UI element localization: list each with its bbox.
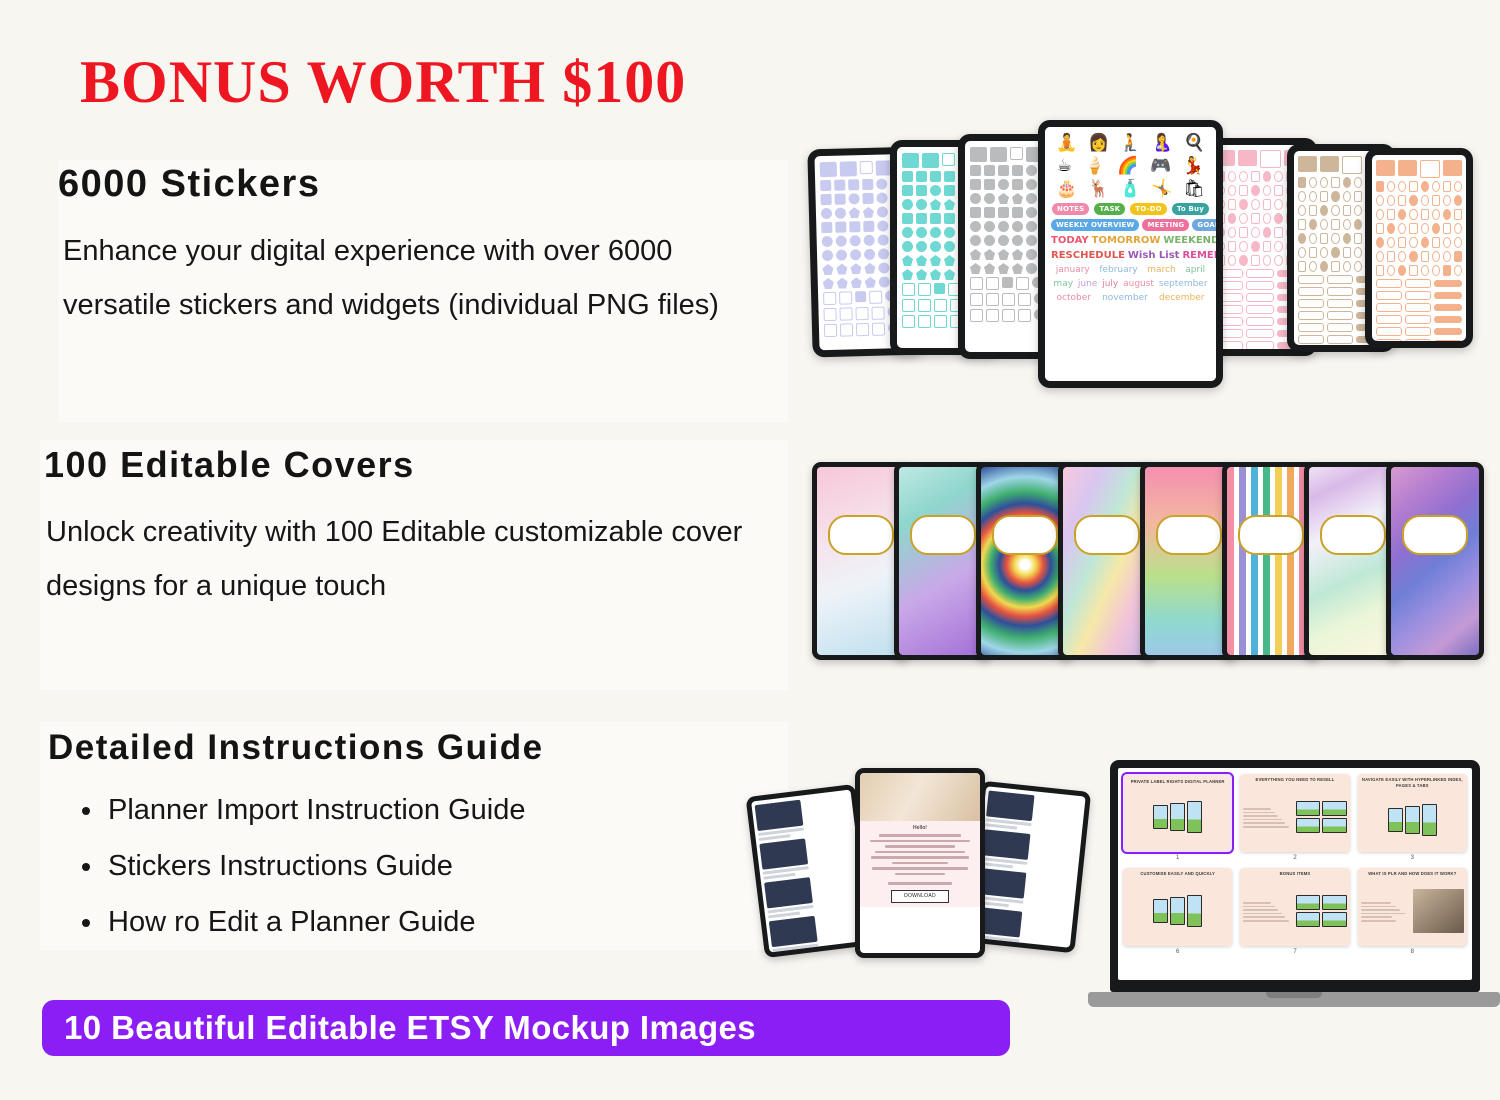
mockup-slide-thumbnail[interactable]: EVERYTHING YOU NEED TO RESELL [1240, 774, 1349, 852]
guide-step-thumbnail [764, 877, 814, 918]
guide-step-thumbnail [755, 800, 805, 841]
sticker-label: TASK [1094, 203, 1125, 215]
sticker-month: february [1099, 265, 1137, 275]
guide-bullet-list: Planner Import Instruction Guide Sticker… [78, 782, 758, 950]
sticker-tablet-fan: 🧘👩🧎🤱🍳☕🍦🌈🎮💃🎂🦌🧴🤸🛍NOTESTASKTO-DOTo BuyWEEKL… [800, 120, 1500, 410]
sticker-month: september [1159, 279, 1208, 289]
mockup-slide[interactable]: NAVIGATE EASILY WITH HYPERLINKED INDEX, … [1358, 774, 1467, 861]
section-title-covers: 100 Editable Covers [44, 447, 415, 483]
guide-hero-photo [860, 773, 980, 821]
sticker-month: may [1053, 279, 1073, 289]
sticker-month: june [1078, 279, 1097, 289]
download-button[interactable]: DOWNLOAD [891, 890, 949, 903]
mockup-slide[interactable]: BONUS ITEMS7 [1240, 868, 1349, 955]
mockup-slide[interactable]: PRIVATE LABEL RIGHTS DIGITAL PLANNER1 [1123, 774, 1232, 861]
sticker-month: december [1159, 293, 1204, 303]
slide-photo [1413, 889, 1464, 933]
cover-title-plate [1074, 515, 1140, 555]
guide-welcome-block: Hello! DOWNLOAD [860, 821, 980, 907]
mockup-slide-number: 3 [1411, 855, 1414, 861]
sticker-label: To Buy [1172, 203, 1209, 215]
promo-graphic: BONUS WORTH $100 6000 Stickers Enhance y… [0, 0, 1500, 1100]
mockup-slide-number: 8 [1411, 949, 1414, 955]
laptop-lid: PRIVATE LABEL RIGHTS DIGITAL PLANNER1EVE… [1110, 760, 1480, 992]
cover-title-plate [1156, 515, 1222, 555]
sticker-illustration-row: 🎂🦌🧴🤸🛍 [1051, 180, 1210, 199]
cover-title-plate [1402, 515, 1468, 555]
guide-step-thumbnail [759, 838, 809, 879]
peach-icon-sheet-tablet [1365, 148, 1473, 348]
sticker-word: WEEKEND [1163, 235, 1216, 246]
mockup-slide-thumbnail[interactable]: NAVIGATE EASILY WITH HYPERLINKED INDEX, … [1358, 774, 1467, 852]
list-item: Stickers Instructions Guide [78, 838, 758, 894]
sticker-month: october [1057, 293, 1091, 303]
guide-greeting: Hello! [866, 825, 974, 831]
etsy-mockup-laptop: PRIVATE LABEL RIGHTS DIGITAL PLANNER1EVE… [1088, 760, 1500, 1020]
section-body-stickers: Enhance your digital experience with ove… [63, 224, 763, 332]
mockup-slide-number: 7 [1293, 949, 1296, 955]
mockup-slide-number: 2 [1293, 855, 1296, 861]
sticker-month: january [1056, 265, 1090, 275]
mockup-slide-thumbnail[interactable]: WHAT IS PLR AND HOW DOES IT WORK? [1358, 868, 1467, 946]
cover-title-plate [1320, 515, 1386, 555]
sticker-label: TO-DO [1130, 203, 1167, 215]
mockup-slide-thumbnail[interactable]: PRIVATE LABEL RIGHTS DIGITAL PLANNER [1123, 774, 1232, 852]
mockup-slide-thumbnail[interactable]: CUSTOMISE EASILY AND QUICKLY [1123, 868, 1232, 946]
purple-blue-ink-marble-cover [1386, 462, 1484, 660]
list-item: How ro Edit a Planner Guide [78, 894, 758, 950]
sticker-illustration-row: 🧘👩🧎🤱🍳 [1051, 134, 1210, 153]
guide-step-thumbnail [769, 916, 819, 953]
mockup-slide-number: 1 [1176, 855, 1179, 861]
etsy-mockup-banner-label: 10 Beautiful Editable ETSY Mockup Images [42, 1009, 756, 1047]
laptop-notch [1266, 992, 1322, 998]
sticker-month: july [1102, 279, 1118, 289]
guide-step-thumbnail [985, 790, 1035, 831]
section-title-stickers: 6000 Stickers [58, 165, 320, 203]
cover-title-plate [992, 515, 1058, 555]
cover-title-plate [910, 515, 976, 555]
sticker-label: MEETING [1142, 219, 1189, 231]
cover-title-plate [1238, 515, 1304, 555]
sticker-word: REMEMBER! [1182, 250, 1216, 261]
list-item: Planner Import Instruction Guide [78, 782, 758, 838]
mockup-slide[interactable]: CUSTOMISE EASILY AND QUICKLY6 [1123, 868, 1232, 955]
sticker-word: TOMORROW [1092, 235, 1161, 246]
section-body-covers: Unlock creativity with 100 Editable cust… [46, 505, 746, 613]
sticker-month: november [1102, 293, 1148, 303]
page-title: BONUS WORTH $100 [80, 52, 686, 112]
sticker-label: NOTES [1052, 203, 1089, 215]
editable-covers-row [812, 462, 1500, 667]
sticker-word: TODAY [1051, 235, 1089, 246]
mockup-slide[interactable]: WHAT IS PLR AND HOW DOES IT WORK?8 [1358, 868, 1467, 955]
cover-title-plate [828, 515, 894, 555]
sticker-word: Wish List [1128, 250, 1180, 261]
mockup-slide[interactable]: EVERYTHING YOU NEED TO RESELL2 [1240, 774, 1349, 861]
sticker-illustration-row: ☕🍦🌈🎮💃 [1051, 157, 1210, 176]
sticker-month: march [1147, 265, 1175, 275]
etsy-mockup-banner: 10 Beautiful Editable ETSY Mockup Images [42, 1000, 1010, 1056]
sticker-label: GOALS [1192, 219, 1216, 231]
colorful-sticker-sheet-tablet: 🧘👩🧎🤱🍳☕🍦🌈🎮💃🎂🦌🧴🤸🛍NOTESTASKTO-DOTo BuyWEEKL… [1038, 120, 1223, 388]
laptop-screen: PRIVATE LABEL RIGHTS DIGITAL PLANNER1EVE… [1118, 768, 1472, 980]
welcome-download-guide-tablet: Hello! DOWNLOAD [855, 768, 985, 958]
instruction-guide-tablets: Hello! DOWNLOAD [755, 768, 1095, 958]
sticker-word: RESCHEDULE [1051, 250, 1125, 261]
guide-step-thumbnail [981, 829, 1031, 870]
sticker-month: august [1123, 279, 1154, 289]
mockup-slide-thumbnail[interactable]: BONUS ITEMS [1240, 868, 1349, 946]
section-title-guide: Detailed Instructions Guide [48, 730, 544, 765]
sticker-month: april [1185, 265, 1205, 275]
sticker-label: WEEKLY OVERVIEW [1051, 219, 1139, 231]
mockup-slide-title: NAVIGATE EASILY WITH HYPERLINKED INDEX, … [1361, 777, 1464, 788]
mockup-slide-number: 6 [1176, 949, 1179, 955]
